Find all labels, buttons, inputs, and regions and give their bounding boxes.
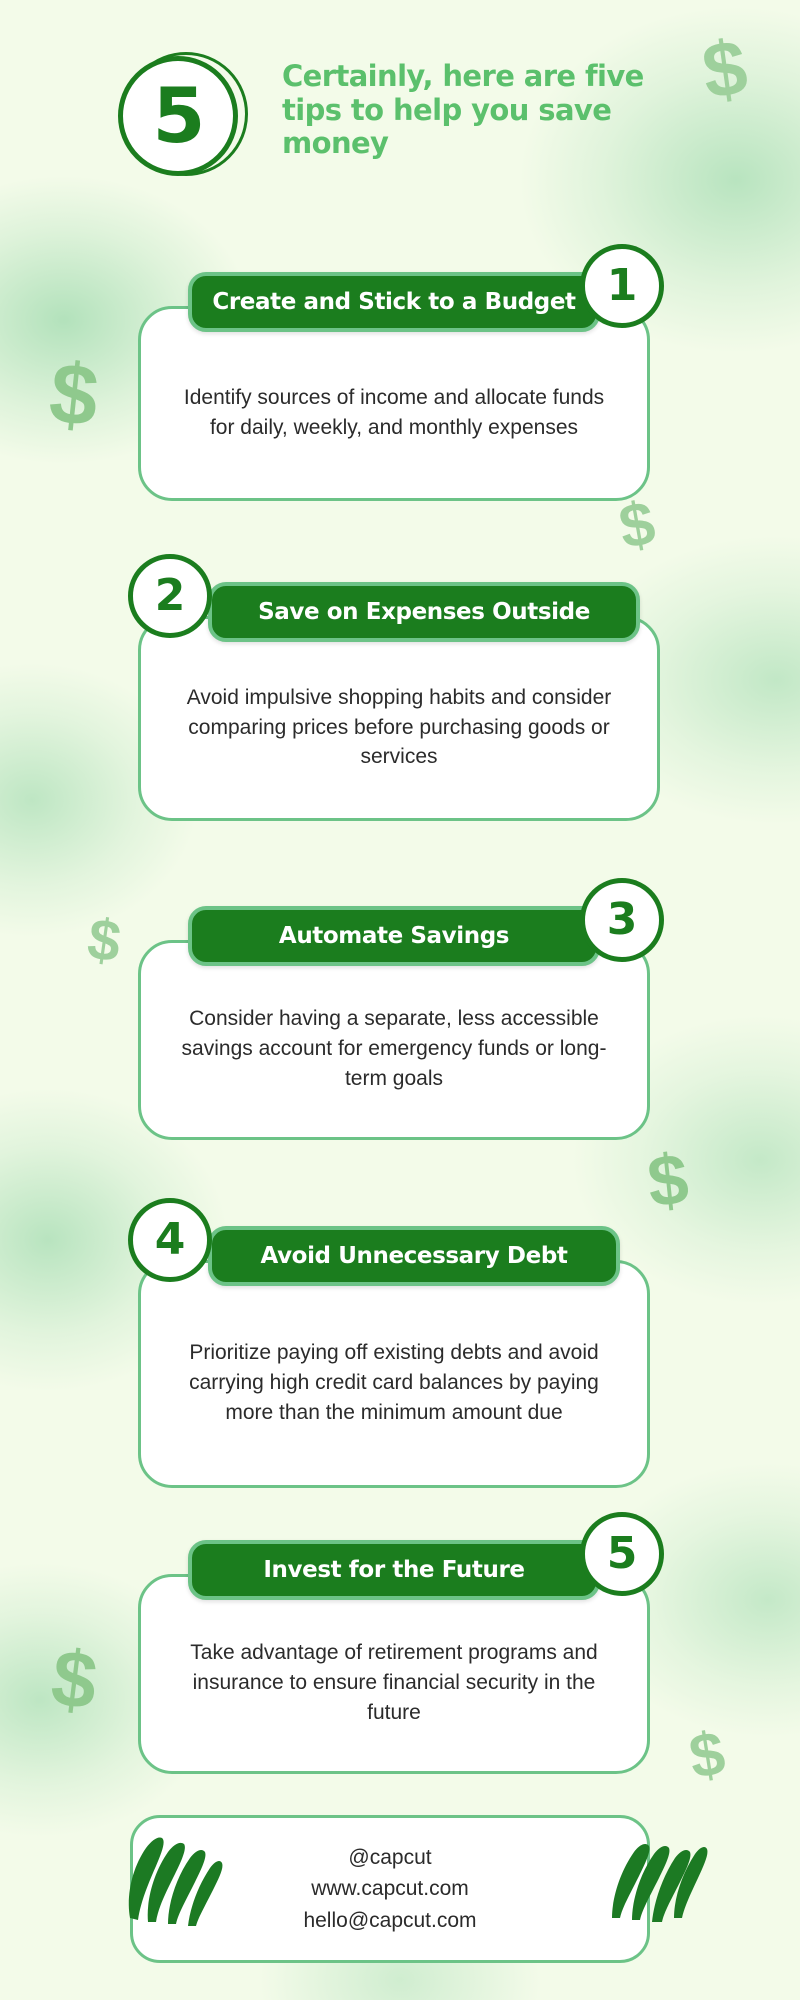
tip-card-header[interactable]: Invest for the Future [188, 1540, 600, 1600]
tip-number: 1 [607, 264, 638, 308]
tip-card-body: Avoid impulsive shopping habits and cons… [138, 616, 660, 821]
header-number-badge: 5 [118, 50, 248, 180]
tip-number-badge-5: 5 [580, 1512, 664, 1596]
page-title: Certainly, here are five tips to help yo… [282, 60, 702, 161]
dollar-sign-icon: $ [615, 492, 660, 559]
tip-card-header[interactable]: Avoid Unnecessary Debt [208, 1226, 620, 1286]
tip-card-title: Invest for the Future [263, 1557, 524, 1583]
dollar-sign-icon: $ [644, 1143, 691, 1219]
footer-website[interactable]: www.capcut.com [311, 1873, 469, 1905]
tip-card-header[interactable]: Create and Stick to a Budget [188, 272, 600, 332]
tip-card-text: Avoid impulsive shopping habits and cons… [175, 683, 623, 772]
tip-card-title: Save on Expenses Outside [258, 599, 590, 625]
tip-card-body: Prioritize paying off existing debts and… [138, 1260, 650, 1488]
tip-number-badge-2: 2 [128, 554, 212, 638]
infographic-page: $ $ $ $ $ $ $ 5 Certainly, here are five… [0, 0, 800, 2000]
footer-handle: @capcut [348, 1842, 431, 1874]
tip-number: 3 [607, 898, 638, 942]
tip-card-text: Prioritize paying off existing debts and… [175, 1338, 613, 1427]
dollar-sign-icon: $ [685, 1723, 729, 1790]
tip-card-body: Consider having a separate, less accessi… [138, 940, 650, 1140]
tip-card-text: Consider having a separate, less accessi… [175, 1004, 613, 1093]
footer-email[interactable]: hello@capcut.com [303, 1905, 476, 1937]
tip-card-body: Identify sources of income and allocate … [138, 306, 650, 501]
header-badge-number: 5 [153, 78, 204, 154]
tip-number: 5 [607, 1532, 638, 1576]
tip-number: 4 [155, 1218, 186, 1262]
dollar-sign-icon: $ [84, 910, 124, 972]
tip-card-title: Create and Stick to a Budget [212, 289, 575, 315]
badge-inner-circle: 5 [118, 56, 238, 176]
tip-card-text: Take advantage of retirement programs an… [175, 1638, 613, 1727]
footer-contact-card: @capcut www.capcut.com hello@capcut.com [130, 1815, 650, 1963]
tip-card-header[interactable]: Automate Savings [188, 906, 600, 966]
dollar-sign-icon: $ [46, 350, 103, 441]
dollar-sign-icon: $ [47, 1638, 101, 1723]
tip-card-text: Identify sources of income and allocate … [175, 383, 613, 443]
tip-card-title: Automate Savings [279, 923, 509, 949]
header: 5 Certainly, here are five tips to help … [0, 42, 800, 202]
tip-number-badge-4: 4 [128, 1198, 212, 1282]
tip-number: 2 [155, 574, 186, 618]
tip-number-badge-3: 3 [580, 878, 664, 962]
tip-card-title: Avoid Unnecessary Debt [261, 1243, 568, 1269]
tip-card-body: Take advantage of retirement programs an… [138, 1574, 650, 1774]
tip-card-header[interactable]: Save on Expenses Outside [208, 582, 640, 642]
tip-number-badge-1: 1 [580, 244, 664, 328]
